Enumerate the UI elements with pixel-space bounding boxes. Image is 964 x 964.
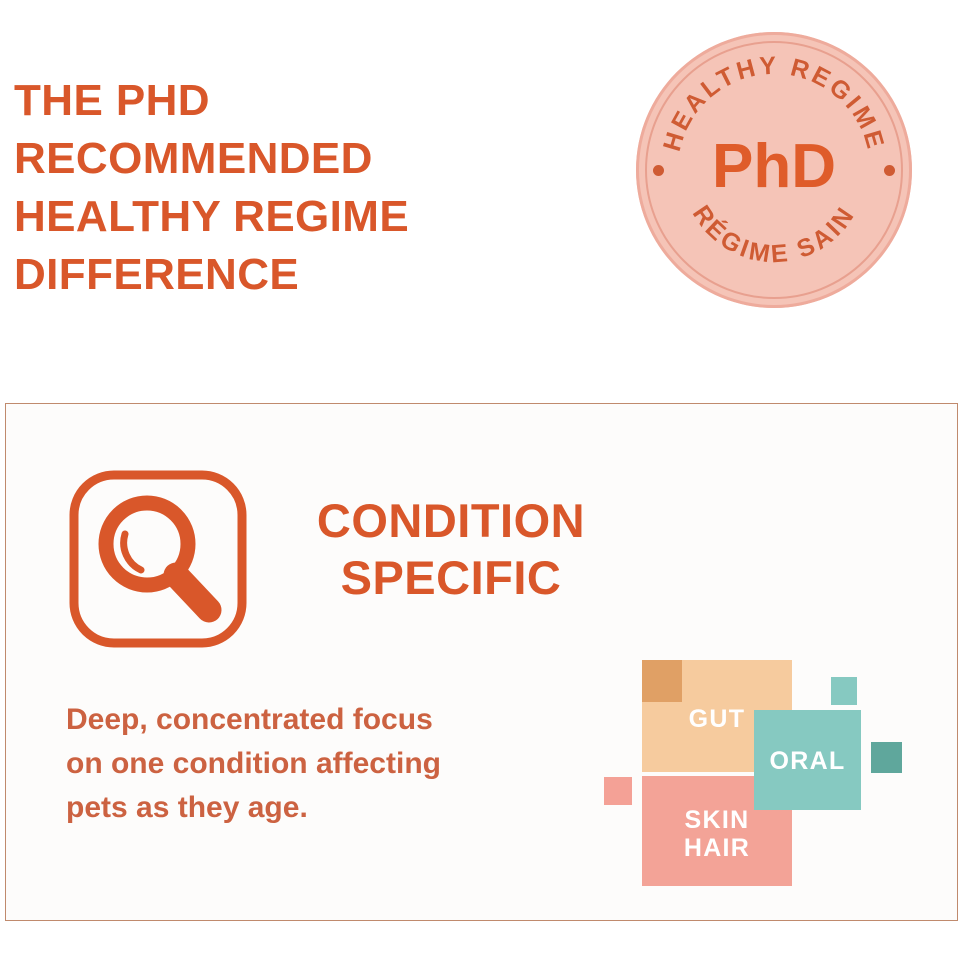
card-title-line-1: CONDITION: [276, 492, 626, 549]
oral-block: ORAL: [754, 710, 861, 810]
magnifying-glass-icon: [69, 470, 247, 648]
headline-line-1: THE PHD: [14, 72, 574, 130]
phd-healthy-regime-badge: HEALTHY REGIME RÉGIME SAIN PhD: [636, 32, 912, 308]
card-body-line-3: pets as they age.: [66, 786, 536, 830]
card-body-text: Deep, concentrated focus on one conditio…: [66, 698, 536, 830]
page-title: THE PHD RECOMMENDED HEALTHY REGIME DIFFE…: [14, 72, 574, 304]
headline-line-2: RECOMMENDED: [14, 130, 574, 188]
magnifier-glint: [124, 534, 141, 570]
badge-bottom-arc-label: RÉGIME SAIN: [687, 200, 861, 268]
badge-center-label: PhD: [636, 136, 912, 198]
skin-hair-label-line-2: HAIR: [684, 834, 750, 862]
skin-hair-block-label: SKIN HAIR: [642, 806, 792, 862]
card-body-line-2: on one condition affecting: [66, 742, 536, 786]
card-body-line-1: Deep, concentrated focus: [66, 698, 536, 742]
badge-bottom-arc-textpath: RÉGIME SAIN: [687, 200, 861, 268]
card-title: CONDITION SPECIFIC: [276, 492, 626, 607]
headline-line-4: DIFFERENCE: [14, 246, 574, 304]
gut-block-corner-accent: [642, 660, 682, 702]
oral-block-label: ORAL: [754, 747, 861, 775]
condition-blocks-diagram: GUT SKIN HAIR ORAL: [596, 649, 916, 899]
magnifier-handle: [176, 575, 209, 610]
skin-hair-label-line-1: SKIN: [685, 806, 750, 834]
condition-specific-card: CONDITION SPECIFIC Deep, concentrated fo…: [5, 403, 958, 921]
teal-dark-accent-square: [871, 742, 902, 773]
teal-accent-square: [831, 677, 857, 705]
card-title-line-2: SPECIFIC: [276, 549, 626, 606]
headline-line-3: HEALTHY REGIME: [14, 188, 574, 246]
hero-section: THE PHD RECOMMENDED HEALTHY REGIME DIFFE…: [0, 0, 964, 400]
pink-accent-square: [604, 777, 632, 805]
